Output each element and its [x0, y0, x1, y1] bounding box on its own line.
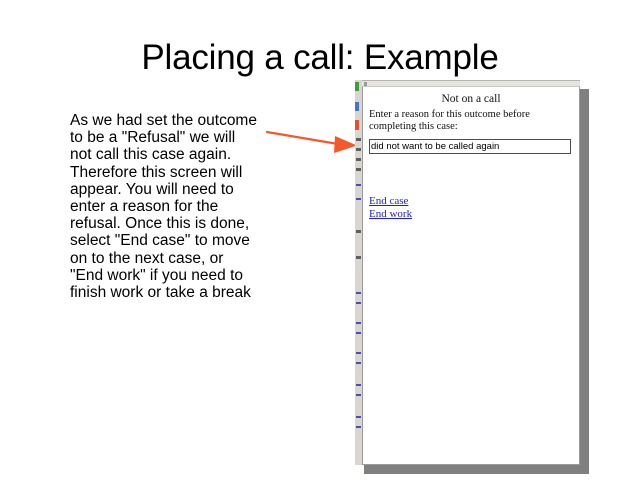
- edge-color-chip-blue: [355, 102, 359, 111]
- edge-text-fragment: [356, 138, 361, 141]
- edge-link-fragment: [356, 416, 361, 418]
- edge-color-chip-green: [355, 82, 359, 91]
- call-outcome-form: Not on a call Enter a reason for this ou…: [369, 93, 573, 222]
- edge-text-fragment: [356, 168, 361, 171]
- callout-arrow: [262, 122, 362, 154]
- edge-link-fragment: [356, 384, 361, 386]
- edge-link-fragment: [356, 302, 361, 304]
- form-instruction-text: Enter a reason for this outcome before c…: [369, 109, 576, 134]
- edge-link-fragment: [356, 352, 361, 354]
- slide-body-text: As we had set the outcome to be a "Refus…: [70, 112, 260, 301]
- edge-link-fragment: [356, 198, 361, 200]
- edge-link-fragment: [356, 332, 361, 334]
- browser-toolbar-strip: [362, 80, 580, 87]
- form-action-links: End case End work: [369, 195, 573, 221]
- edge-text-fragment: [356, 256, 361, 259]
- edge-text-fragment: [356, 148, 361, 151]
- edge-color-chip-red: [355, 120, 359, 130]
- page-title: Placing a call: Example: [0, 38, 640, 78]
- arrow-icon: [262, 122, 362, 154]
- edge-link-fragment: [356, 362, 361, 364]
- panel-drop-shadow-bottom: [364, 465, 589, 474]
- end-case-link[interactable]: End case: [369, 195, 573, 208]
- reason-input[interactable]: [369, 139, 571, 154]
- edge-link-fragment: [356, 322, 361, 324]
- edge-link-fragment: [356, 394, 361, 396]
- form-heading: Not on a call: [369, 93, 573, 106]
- toolbar-grip-icon: [364, 82, 367, 86]
- edge-text-fragment: [356, 230, 361, 233]
- edge-link-fragment: [356, 184, 361, 186]
- cropped-window-edge-strip: [355, 80, 362, 465]
- edge-link-fragment: [356, 292, 361, 294]
- panel-drop-shadow-right: [580, 89, 589, 474]
- edge-link-fragment: [356, 426, 361, 428]
- not-on-a-call-screenshot: Not on a call Enter a reason for this ou…: [355, 80, 580, 465]
- edge-text-fragment: [356, 158, 361, 161]
- end-work-link[interactable]: End work: [369, 208, 573, 221]
